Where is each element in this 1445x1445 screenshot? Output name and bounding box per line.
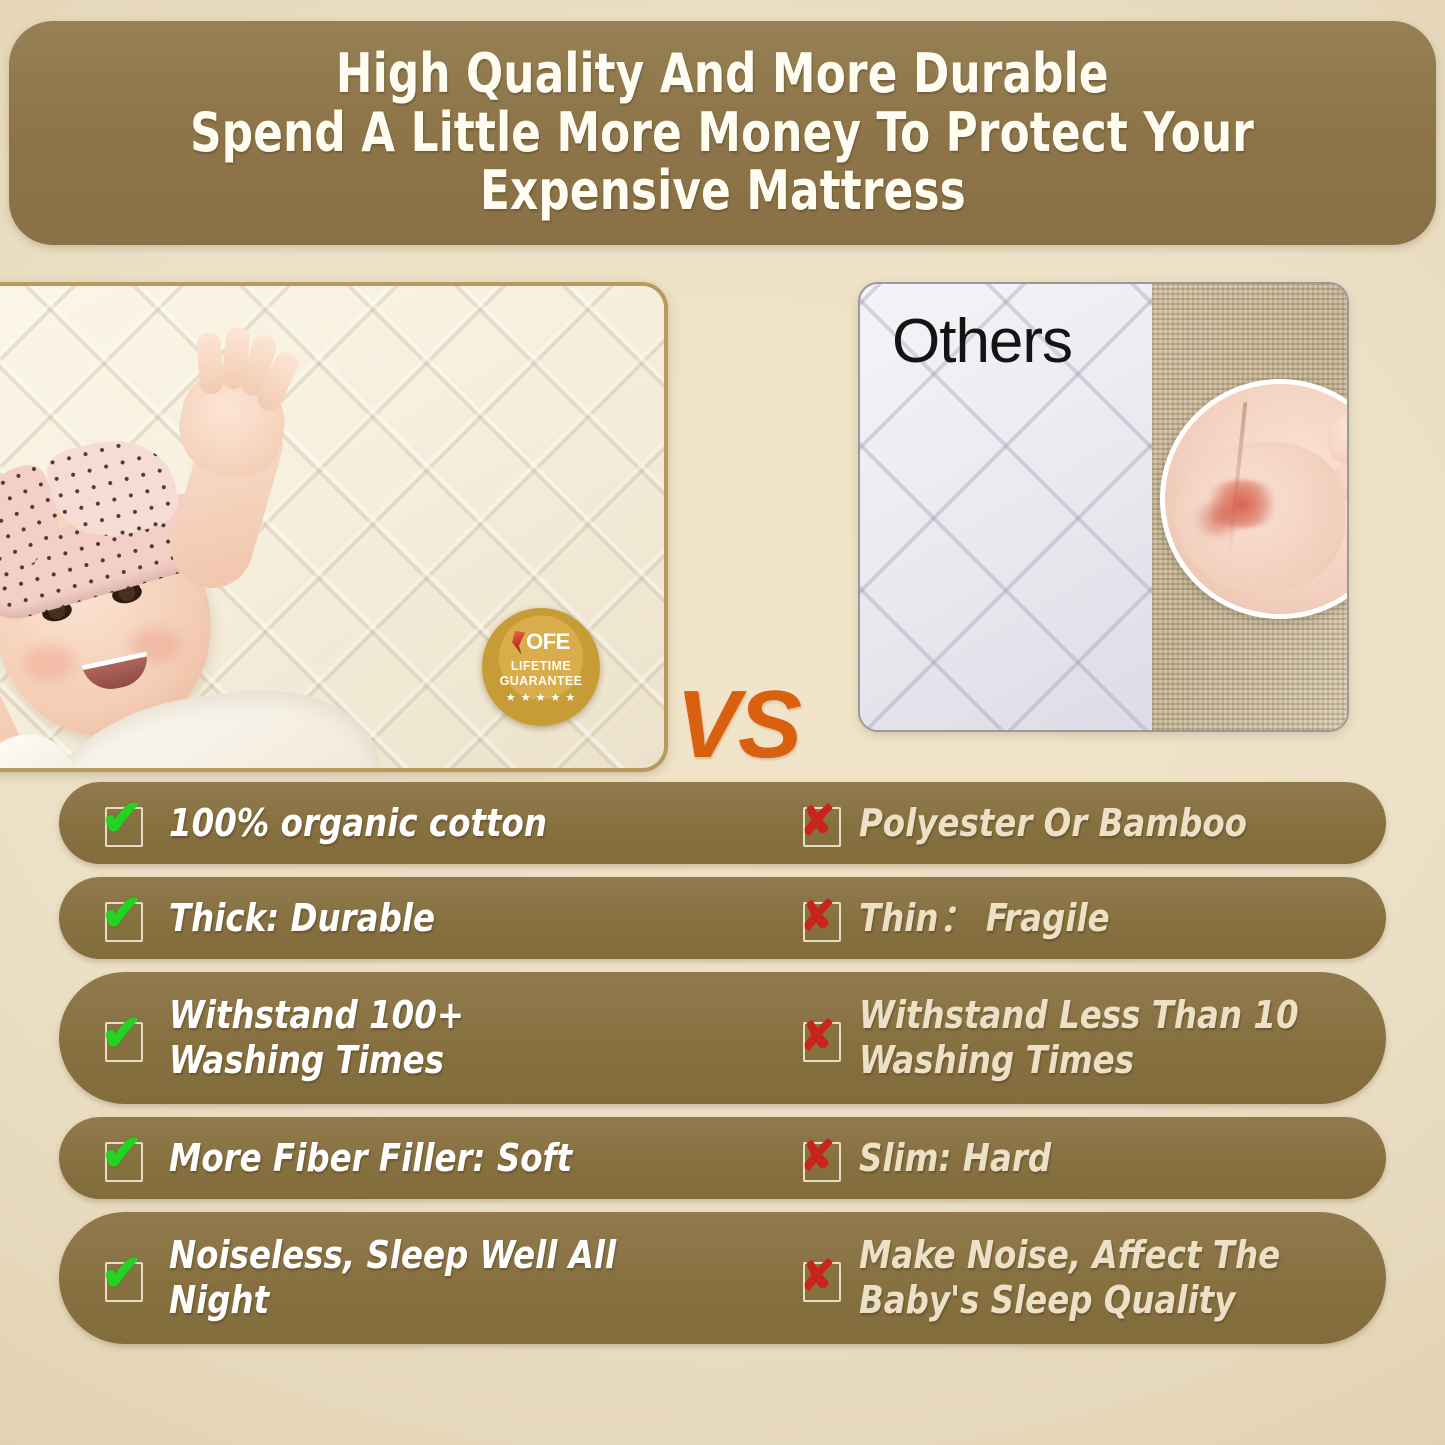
feature-good-text: More Fiber Filler: Soft bbox=[169, 1136, 572, 1181]
check-glyph: ✔ bbox=[101, 1246, 155, 1300]
check-icon: ✔ bbox=[101, 1016, 145, 1060]
check-glyph: ✔ bbox=[101, 886, 155, 940]
row-bad-cell: ✘ Thin： Fragile bbox=[785, 896, 1386, 941]
infographic-canvas: High Quality And More Durable Spend A Li… bbox=[0, 0, 1445, 1445]
feature-good-text: Noiseless, Sleep Well All Night bbox=[169, 1233, 616, 1323]
row-bad-cell: ✘ Make Noise, Affect The Baby's Sleep Qu… bbox=[785, 1233, 1386, 1323]
table-row: ✔ Withstand 100+ Washing Times ✘ Withsta… bbox=[59, 972, 1386, 1104]
row-bad-cell: ✘ Withstand Less Than 10 Washing Times bbox=[785, 993, 1386, 1083]
table-row: ✔ 100% organic cotton ✘ Polyester Or Bam… bbox=[59, 782, 1386, 864]
baby-cheek-left bbox=[24, 646, 76, 680]
cross-glyph: ✘ bbox=[800, 1010, 846, 1062]
check-glyph: ✔ bbox=[101, 791, 155, 845]
brand-swoosh-icon bbox=[512, 631, 525, 655]
feature-bad-text: Polyester Or Bamboo bbox=[859, 801, 1247, 846]
cross-icon: ✘ bbox=[799, 1256, 839, 1300]
row-good-cell: ✔ More Fiber Filler: Soft bbox=[59, 1136, 785, 1181]
brand-name: OFE bbox=[526, 631, 570, 653]
cross-glyph: ✘ bbox=[800, 1250, 846, 1302]
row-good-cell: ✔ 100% organic cotton bbox=[59, 801, 785, 846]
cross-glyph: ✘ bbox=[800, 795, 846, 847]
others-label: Others bbox=[892, 306, 1072, 377]
feature-comparison-list: ✔ 100% organic cotton ✘ Polyester Or Bam… bbox=[0, 782, 1445, 1357]
own-product-photo: OFE LIFETIME GUARANTEE ★ ★ ★ ★ ★ bbox=[0, 282, 668, 772]
dress-bow bbox=[225, 771, 402, 772]
headline-line-2: Spend A Little More Money To Protect You… bbox=[191, 104, 1255, 163]
check-glyph: ✔ bbox=[101, 1006, 155, 1060]
feature-bad-text: Withstand Less Than 10 Washing Times bbox=[859, 993, 1299, 1083]
feature-good-text: 100% organic cotton bbox=[169, 801, 547, 846]
row-good-cell: ✔ Thick: Durable bbox=[59, 896, 785, 941]
rash-patch-secondary bbox=[1189, 502, 1247, 536]
feature-good-text: Thick: Durable bbox=[169, 896, 435, 941]
finger bbox=[196, 331, 224, 395]
feature-bad-text: Thin： Fragile bbox=[859, 896, 1110, 941]
table-row: ✔ Noiseless, Sleep Well All Night ✘ Make… bbox=[59, 1212, 1386, 1344]
table-row: ✔ Thick: Durable ✘ Thin： Fragile bbox=[59, 877, 1386, 959]
others-product-photo: Others bbox=[858, 282, 1349, 732]
cross-icon: ✘ bbox=[799, 896, 839, 940]
cross-icon: ✘ bbox=[799, 1016, 839, 1060]
table-row: ✔ More Fiber Filler: Soft ✘ Slim: Hard bbox=[59, 1117, 1386, 1199]
foot-toe-big bbox=[1327, 410, 1349, 468]
vs-label: VS bbox=[676, 670, 800, 780]
headline-banner: High Quality And More Durable Spend A Li… bbox=[9, 21, 1436, 245]
headline-line-3: Expensive Mattress bbox=[480, 162, 966, 221]
check-icon: ✔ bbox=[101, 1256, 145, 1300]
row-good-cell: ✔ Noiseless, Sleep Well All Night bbox=[59, 1233, 785, 1323]
seal-line-2: GUARANTEE bbox=[500, 674, 583, 689]
comparison-panels: OFE LIFETIME GUARANTEE ★ ★ ★ ★ ★ VS Othe… bbox=[0, 262, 1445, 762]
row-good-cell: ✔ Withstand 100+ Washing Times bbox=[59, 993, 785, 1083]
cross-glyph: ✘ bbox=[800, 890, 846, 942]
cross-glyph: ✘ bbox=[800, 1130, 846, 1182]
row-bad-cell: ✘ Slim: Hard bbox=[785, 1136, 1386, 1181]
check-glyph: ✔ bbox=[101, 1126, 155, 1180]
headline-line-1: High Quality And More Durable bbox=[336, 45, 1109, 104]
row-bad-cell: ✘ Polyester Or Bamboo bbox=[785, 801, 1386, 846]
lifetime-guarantee-seal: OFE LIFETIME GUARANTEE ★ ★ ★ ★ ★ bbox=[482, 608, 600, 726]
feature-bad-text: Make Noise, Affect The Baby's Sleep Qual… bbox=[859, 1233, 1280, 1323]
brand-logo: OFE bbox=[512, 630, 570, 654]
feature-bad-text: Slim: Hard bbox=[859, 1136, 1051, 1181]
cross-icon: ✘ bbox=[799, 1136, 839, 1180]
seal-line-1: LIFETIME bbox=[511, 659, 571, 674]
seal-stars: ★ ★ ★ ★ ★ bbox=[506, 691, 577, 704]
check-icon: ✔ bbox=[101, 801, 145, 845]
check-icon: ✔ bbox=[101, 1136, 145, 1180]
baby-photo-illustration bbox=[0, 406, 434, 772]
feature-good-text: Withstand 100+ Washing Times bbox=[169, 993, 464, 1083]
check-icon: ✔ bbox=[101, 896, 145, 940]
cross-icon: ✘ bbox=[799, 801, 839, 845]
